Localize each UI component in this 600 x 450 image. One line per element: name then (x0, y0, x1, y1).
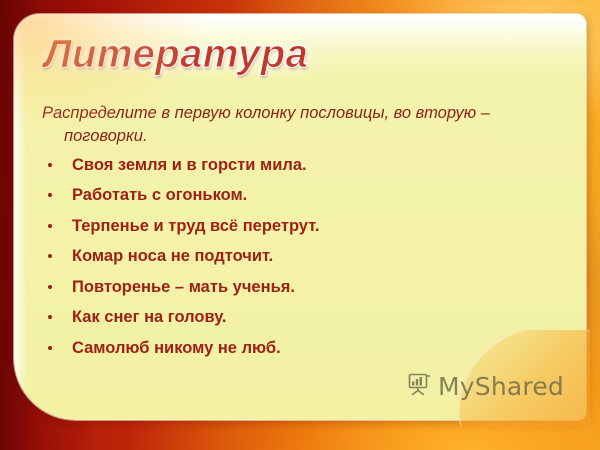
instruction-text: Распределите в первую колонку пословицы,… (42, 102, 562, 149)
bullet-dot-icon (48, 224, 52, 228)
list-item: Самолюб никому не люб. (42, 339, 582, 357)
bullet-dot-icon (48, 163, 52, 167)
list-item-label: Самолюб никому не люб. (72, 339, 281, 357)
instruction-line-2: поговорки. (42, 125, 562, 148)
myshared-watermark: MyShared (406, 371, 564, 402)
slide-card: Литература Распределите в первую колонку… (14, 14, 586, 420)
bullet-dot-icon (48, 193, 52, 197)
bullet-dot-icon (48, 315, 52, 319)
list-item-label: Терпенье и труд всё перетрут. (72, 217, 319, 235)
bullet-dot-icon (48, 346, 52, 350)
list-item: Как снег на голову. (42, 308, 582, 326)
list-item-label: Повторенье – мать ученья. (72, 278, 295, 296)
page-title: Литература (44, 32, 308, 77)
list-item: Своя земля и в горсти мила. (42, 156, 582, 174)
instruction-line-1: Распределите в первую колонку пословицы,… (42, 104, 490, 122)
slide-content: Литература Распределите в первую колонку… (14, 14, 586, 420)
presentation-chart-icon (406, 371, 432, 402)
bullet-dot-icon (48, 254, 52, 258)
slide-root: Литература Распределите в первую колонку… (0, 0, 600, 450)
list-item: Работать с огоньком. (42, 186, 582, 204)
list-item-label: Как снег на голову. (72, 308, 227, 326)
list-item: Комар носа не подточит. (42, 247, 582, 265)
list-item-label: Работать с огоньком. (72, 186, 247, 204)
list-item: Повторенье – мать ученья. (42, 278, 582, 296)
list-item-label: Своя земля и в горсти мила. (72, 156, 307, 174)
bullet-dot-icon (48, 285, 52, 289)
myshared-label: MyShared (438, 372, 564, 401)
list-item-label: Комар носа не подточит. (72, 247, 273, 265)
proverb-list: Своя земля и в горсти мила. Работать с о… (42, 156, 582, 369)
list-item: Терпенье и труд всё перетрут. (42, 217, 582, 235)
